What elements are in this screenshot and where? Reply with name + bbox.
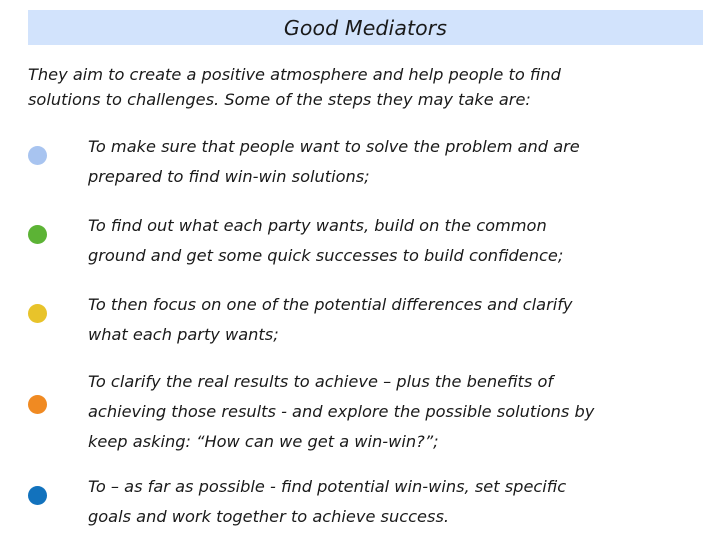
list-item: To then focus on one of the potential di… xyxy=(0,285,720,362)
bullet-dot-yellow-icon xyxy=(28,304,47,323)
list-item: To make sure that people want to solve t… xyxy=(0,128,720,206)
list-item-line: To clarify the real results to achieve –… xyxy=(88,367,688,397)
list-item-line: To find out what each party wants, build… xyxy=(88,211,688,241)
slide-title-bar: Good Mediators xyxy=(28,10,703,45)
bullet-list: To make sure that people want to solve t… xyxy=(0,128,720,537)
list-item-line: To then focus on one of the potential di… xyxy=(88,290,688,320)
list-item-line: prepared to find win-win solutions; xyxy=(88,162,688,192)
page-title: Good Mediators xyxy=(284,16,447,40)
list-item: To – as far as possible - find potential… xyxy=(0,465,720,537)
bullet-dot-green-icon xyxy=(28,225,47,244)
slide-canvas: Good Mediators They aim to create a posi… xyxy=(0,0,720,540)
list-item-text: To clarify the real results to achieve –… xyxy=(88,367,688,457)
list-item-text: To then focus on one of the potential di… xyxy=(88,290,688,350)
list-item: To clarify the real results to achieve –… xyxy=(0,362,720,465)
list-item-text: To – as far as possible - find potential… xyxy=(88,472,688,532)
bullet-dot-blue-icon xyxy=(28,486,47,505)
list-item-line: achieving those results - and explore th… xyxy=(88,397,688,427)
list-item-line: goals and work together to achieve succe… xyxy=(88,502,688,532)
intro-line: They aim to create a positive atmosphere… xyxy=(28,62,668,87)
list-item-line: what each party wants; xyxy=(88,320,688,350)
list-item-line: keep asking: “How can we get a win-win?”… xyxy=(88,427,688,457)
list-item-line: To make sure that people want to solve t… xyxy=(88,132,688,162)
list-item-line: ground and get some quick successes to b… xyxy=(88,241,688,271)
list-item-text: To make sure that people want to solve t… xyxy=(88,132,688,192)
bullet-dot-orange-icon xyxy=(28,395,47,414)
list-item-text: To find out what each party wants, build… xyxy=(88,211,688,271)
bullet-dot-light-blue-icon xyxy=(28,146,47,165)
intro-paragraph: They aim to create a positive atmosphere… xyxy=(28,62,668,112)
list-item: To find out what each party wants, build… xyxy=(0,206,720,285)
list-item-line: To – as far as possible - find potential… xyxy=(88,472,688,502)
intro-line: solutions to challenges. Some of the ste… xyxy=(28,87,668,112)
